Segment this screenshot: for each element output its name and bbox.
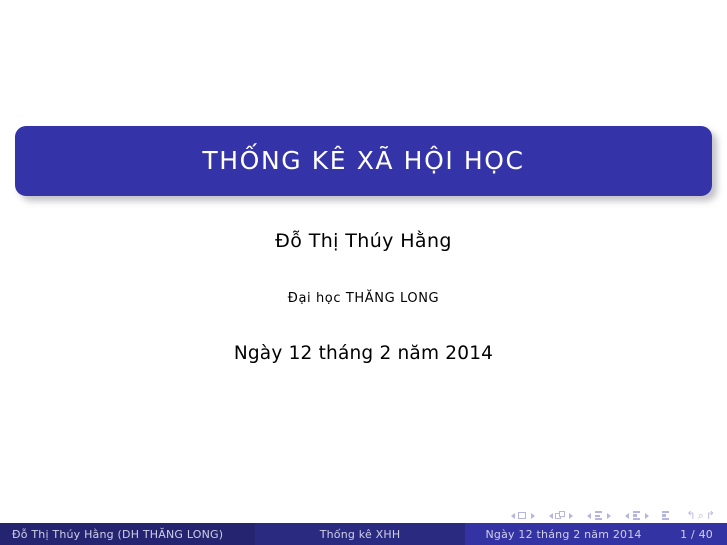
footer-title: Thống kê XHH	[255, 523, 465, 545]
back-icon[interactable]: ↰	[686, 510, 695, 521]
author-name: Đỗ Thị Thúy Hằng	[0, 232, 727, 251]
slide-next-icon[interactable]	[531, 513, 535, 519]
section-icon[interactable]	[631, 511, 642, 521]
institute-name: Đại học THĂNG LONG	[0, 292, 727, 305]
beamer-navigation-symbols[interactable]: ↰ ⌕ ↱	[508, 508, 715, 523]
forward-icon[interactable]: ↱	[706, 510, 715, 521]
subsection-icon[interactable]	[593, 511, 604, 521]
presentation-date: Ngày 12 tháng 2 năm 2014	[0, 345, 727, 364]
search-icon[interactable]: ⌕	[698, 510, 704, 521]
title-block: THỐNG KÊ XÃ HỘI HỌC	[15, 126, 712, 196]
footer-right-section: Ngày 12 tháng 2 năm 2014 1 / 40	[465, 523, 727, 545]
slide-navigation-group[interactable]	[508, 511, 537, 521]
page-title: THỐNG KÊ XÃ HỘI HỌC	[202, 148, 524, 175]
footer-date: Ngày 12 tháng 2 năm 2014	[465, 528, 662, 541]
document-icon[interactable]	[660, 511, 671, 521]
frame-navigation-group[interactable]	[546, 511, 575, 521]
section-next-icon[interactable]	[645, 513, 649, 519]
frame-next-icon[interactable]	[569, 513, 573, 519]
slide-footer: Đỗ Thị Thúy Hằng (DH THĂNG LONG) Thống k…	[0, 523, 727, 545]
slide-icon[interactable]	[517, 511, 528, 521]
subsection-next-icon[interactable]	[607, 513, 611, 519]
footer-page-number: 1 / 40	[662, 528, 713, 541]
subsection-navigation-group[interactable]	[584, 511, 613, 521]
section-navigation-group[interactable]	[622, 511, 651, 521]
frame-prev-icon[interactable]	[549, 513, 553, 519]
history-navigation-group[interactable]: ↰ ⌕ ↱	[686, 510, 715, 521]
slide-prev-icon[interactable]	[511, 513, 515, 519]
document-navigation-group[interactable]	[660, 511, 671, 521]
title-metadata: Đỗ Thị Thúy Hằng Đại học THĂNG LONG Ngày…	[0, 232, 727, 364]
presentation-slide: THỐNG KÊ XÃ HỘI HỌC Đỗ Thị Thúy Hằng Đại…	[0, 0, 727, 545]
section-prev-icon[interactable]	[625, 513, 629, 519]
subsection-prev-icon[interactable]	[587, 513, 591, 519]
frame-icon[interactable]	[555, 511, 566, 521]
footer-author: Đỗ Thị Thúy Hằng (DH THĂNG LONG)	[0, 523, 255, 545]
